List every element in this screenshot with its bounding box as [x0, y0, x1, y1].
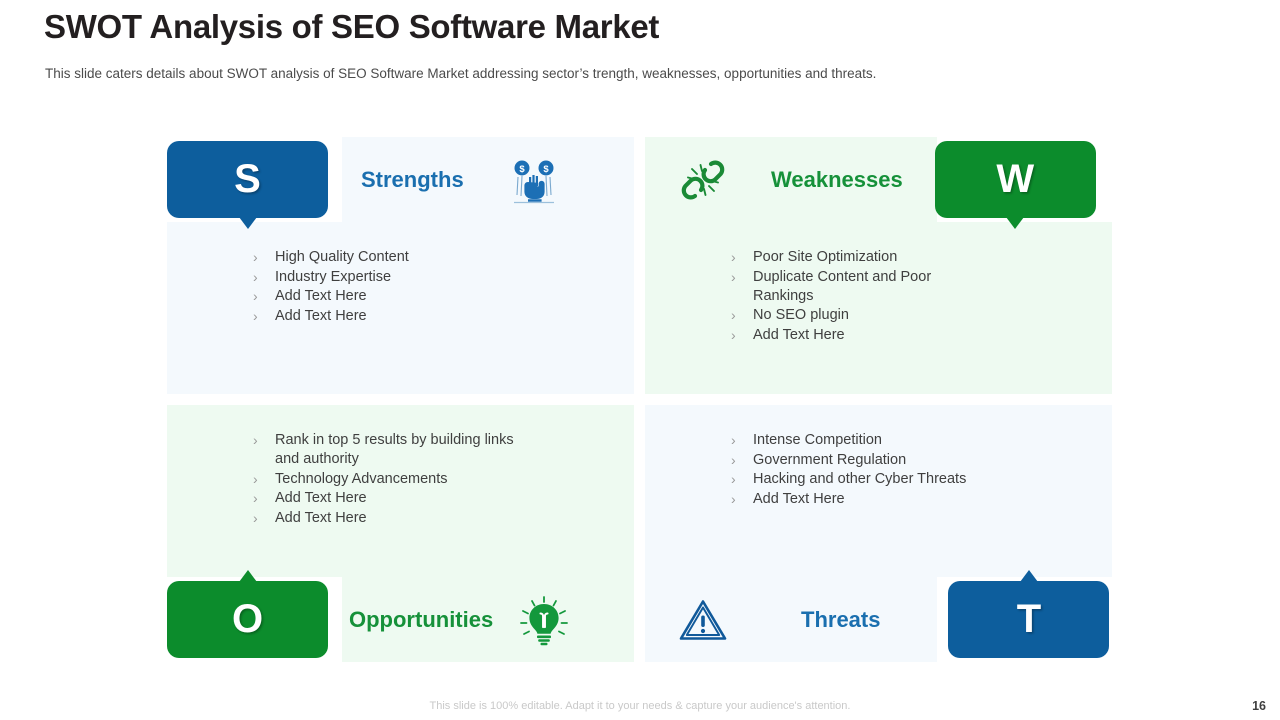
list-item: ›Add Text Here — [731, 490, 1092, 509]
footer-note: This slide is 100% editable. Adapt it to… — [0, 700, 1280, 712]
page-subtitle: This slide caters details about SWOT ana… — [45, 66, 876, 81]
weaknesses-header: Weaknesses W — [645, 137, 1112, 222]
weaknesses-bullet-list: ›Poor Site Optimization ›Duplicate Conte… — [731, 248, 1092, 345]
chevron-right-icon: › — [253, 489, 258, 508]
chevron-right-icon: › — [731, 470, 736, 489]
chevron-right-icon: › — [253, 268, 258, 287]
swot-slide: SWOT Analysis of SEO Software Market Thi… — [0, 0, 1280, 720]
badge-letter: W — [996, 157, 1034, 202]
list-item-text: Add Text Here — [275, 510, 367, 526]
threats-header: Threats T — [645, 577, 1112, 662]
badge-tail — [1020, 570, 1038, 582]
badge-letter: S — [234, 157, 261, 202]
swot-grid: ›High Quality Content ›Industry Expertis… — [167, 137, 1112, 662]
badge-weaknesses[interactable]: W — [935, 141, 1096, 218]
strengths-label: Strengths — [361, 167, 464, 193]
list-item-text: Duplicate Content and Poor Rankings — [753, 269, 931, 304]
svg-text:$: $ — [543, 164, 549, 175]
chevron-right-icon: › — [731, 326, 736, 345]
list-item: ›Poor Site Optimization — [731, 248, 1092, 267]
list-item: ›Government Regulation — [731, 451, 1092, 470]
list-item: ›Rank in top 5 results by building links… — [253, 431, 528, 469]
list-item-text: Add Text Here — [753, 327, 845, 343]
chevron-right-icon: › — [253, 307, 258, 326]
list-item: ›Add Text Here — [253, 509, 614, 528]
list-item-text: No SEO plugin — [753, 307, 849, 323]
list-item: ›Add Text Here — [731, 326, 1092, 345]
chevron-right-icon: › — [731, 306, 736, 325]
list-item: ›Duplicate Content and Poor Rankings — [731, 268, 941, 306]
svg-text:$: $ — [519, 164, 525, 175]
list-item: ›Intense Competition — [731, 431, 1092, 450]
chevron-right-icon: › — [731, 268, 736, 287]
chevron-right-icon: › — [253, 470, 258, 489]
badge-tail — [1006, 217, 1024, 229]
strengths-bullet-list: ›High Quality Content ›Industry Expertis… — [253, 248, 614, 326]
chevron-right-icon: › — [253, 431, 258, 450]
warning-triangle-icon — [677, 594, 729, 646]
list-item-text: Industry Expertise — [275, 269, 391, 285]
page-title: SWOT Analysis of SEO Software Market — [44, 8, 659, 46]
fist-with-money-icon: $ $ — [506, 153, 560, 207]
list-item: ›Add Text Here — [253, 287, 614, 306]
list-item: ›High Quality Content — [253, 248, 614, 267]
broken-chain-link-icon — [677, 154, 729, 206]
threats-label: Threats — [801, 607, 880, 633]
list-item: ›No SEO plugin — [731, 306, 1092, 325]
badge-opportunities[interactable]: O — [167, 581, 328, 658]
quadrant-opportunities: ›Rank in top 5 results by building links… — [167, 405, 634, 662]
badge-strengths[interactable]: S — [167, 141, 328, 218]
lightbulb-icon — [518, 594, 570, 646]
badge-tail — [239, 570, 257, 582]
opportunities-body-panel: ›Rank in top 5 results by building links… — [167, 405, 634, 577]
threats-body-panel: ›Intense Competition ›Government Regulat… — [645, 405, 1112, 577]
threats-bullet-list: ›Intense Competition ›Government Regulat… — [731, 431, 1092, 509]
chevron-right-icon: › — [253, 509, 258, 528]
quadrant-strengths: ›High Quality Content ›Industry Expertis… — [167, 137, 634, 394]
list-item: ›Technology Advancements — [253, 470, 614, 489]
badge-tail — [239, 217, 257, 229]
chevron-right-icon: › — [731, 451, 736, 470]
list-item: ›Add Text Here — [253, 489, 614, 508]
weaknesses-body-panel: ›Poor Site Optimization ›Duplicate Conte… — [645, 222, 1112, 394]
chevron-right-icon: › — [253, 287, 258, 306]
badge-threats[interactable]: T — [948, 581, 1109, 658]
list-item-text: Add Text Here — [275, 308, 367, 324]
list-item-text: Hacking and other Cyber Threats — [753, 471, 966, 487]
chevron-right-icon: › — [731, 490, 736, 509]
chevron-right-icon: › — [731, 431, 736, 450]
list-item-text: Poor Site Optimization — [753, 249, 897, 265]
strengths-header: S Strengths $ $ — [167, 137, 634, 222]
opportunities-header: O Opportunities — [167, 577, 634, 662]
weaknesses-label: Weaknesses — [771, 167, 903, 193]
list-item-text: Add Text Here — [275, 288, 367, 304]
list-item-text: Technology Advancements — [275, 471, 448, 487]
list-item-text: Rank in top 5 results by building links … — [275, 432, 514, 467]
quadrant-weaknesses: ›Poor Site Optimization ›Duplicate Conte… — [645, 137, 1112, 394]
chevron-right-icon: › — [731, 248, 736, 267]
page-number: 16 — [1252, 699, 1266, 713]
list-item-text: Intense Competition — [753, 432, 882, 448]
list-item-text: High Quality Content — [275, 249, 409, 265]
list-item-text: Government Regulation — [753, 452, 906, 468]
chevron-right-icon: › — [253, 248, 258, 267]
quadrant-threats: ›Intense Competition ›Government Regulat… — [645, 405, 1112, 662]
strengths-body-panel: ›High Quality Content ›Industry Expertis… — [167, 222, 634, 394]
list-item: ›Add Text Here — [253, 307, 614, 326]
list-item-text: Add Text Here — [275, 490, 367, 506]
list-item-text: Add Text Here — [753, 491, 845, 507]
list-item: ›Industry Expertise — [253, 268, 614, 287]
list-item: ›Hacking and other Cyber Threats — [731, 470, 1092, 489]
badge-letter: T — [1017, 597, 1041, 642]
badge-letter: O — [232, 597, 263, 642]
opportunities-label: Opportunities — [349, 607, 493, 633]
opportunities-bullet-list: ›Rank in top 5 results by building links… — [253, 431, 614, 528]
